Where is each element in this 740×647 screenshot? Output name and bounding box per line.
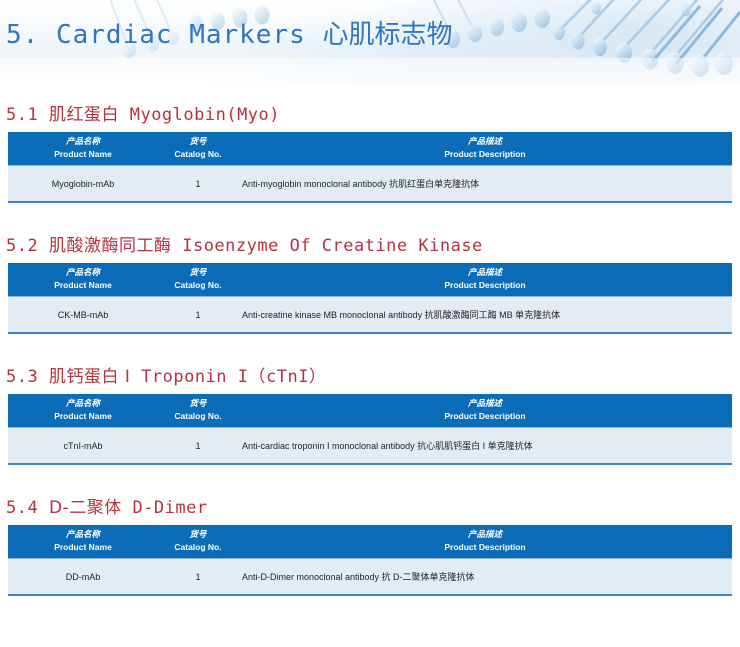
cell-description: Anti-creatine kinase MB monoclonal antib… (238, 297, 732, 334)
section-heading-5-2: 5.2 肌酸激酶同工酶 Isoenzyme Of Creatine Kinase (0, 231, 740, 256)
product-table-5-4: 产品名称 Product Name 货号 Catalog No. 产品描述 Pr… (8, 525, 732, 596)
cell-product-name: CK-MB-mAb (8, 297, 158, 334)
column-header-product-description: 产品描述 Product Description (238, 263, 732, 297)
column-header-product-name: 产品名称 Product Name (8, 132, 158, 166)
section-title-cn: 肌酸激酶同工酶 (49, 236, 172, 256)
section-title-en: D-Dimer (132, 498, 207, 518)
section-title-cn: 肌红蛋白 (49, 105, 119, 125)
section-heading-5-1: 5.1 肌红蛋白 Myoglobin(Myo) (0, 100, 740, 125)
page-title-en: Cardiac Markers (56, 20, 306, 50)
section-title-en: Isoenzyme Of Creatine Kinase (182, 236, 483, 256)
section-number: 5.4 (6, 498, 38, 518)
section-5-4: 5.4 D-二聚体 D-Dimer 产品名称 Product Name 货号 C… (0, 465, 740, 596)
column-header-catalog-no: 货号 Catalog No. (158, 263, 238, 297)
column-header-catalog-no: 货号 Catalog No. (158, 394, 238, 428)
section-title-cn: D-二聚体 (49, 498, 122, 518)
table-header-row: 产品名称 Product Name 货号 Catalog No. 产品描述 Pr… (8, 394, 732, 428)
cell-product-name: Myoglobin-mAb (8, 166, 158, 203)
cell-catalog-no: 1 (158, 428, 238, 465)
column-header-catalog-no: 货号 Catalog No. (158, 132, 238, 166)
cell-catalog-no: 1 (158, 297, 238, 334)
table-row: Myoglobin-mAb 1 Anti-myoglobin monoclona… (8, 166, 732, 203)
column-header-catalog-no: 货号 Catalog No. (158, 525, 238, 559)
column-header-product-name: 产品名称 Product Name (8, 525, 158, 559)
column-header-product-description: 产品描述 Product Description (238, 394, 732, 428)
section-number: 5.1 (6, 105, 38, 125)
table-row: CK-MB-mAb 1 Anti-creatine kinase MB mono… (8, 297, 732, 334)
section-heading-5-4: 5.4 D-二聚体 D-Dimer (0, 493, 740, 518)
column-header-product-description: 产品描述 Product Description (238, 525, 732, 559)
section-title-en: Myoglobin(Myo) (130, 105, 280, 125)
table-header-row: 产品名称 Product Name 货号 Catalog No. 产品描述 Pr… (8, 525, 732, 559)
product-table-5-2: 产品名称 Product Name 货号 Catalog No. 产品描述 Pr… (8, 263, 732, 334)
product-table-5-1: 产品名称 Product Name 货号 Catalog No. 产品描述 Pr… (8, 132, 732, 203)
column-header-product-name: 产品名称 Product Name (8, 394, 158, 428)
cell-product-name: DD-mAb (8, 559, 158, 596)
page-banner: 5. Cardiac Markers 心肌标志物 (0, 0, 740, 86)
product-table-5-3: 产品名称 Product Name 货号 Catalog No. 产品描述 Pr… (8, 394, 732, 465)
section-5-1: 5.1 肌红蛋白 Myoglobin(Myo) 产品名称 Product Nam… (0, 86, 740, 203)
page-title: 5. Cardiac Markers 心肌标志物 (6, 14, 452, 51)
section-5-2: 5.2 肌酸激酶同工酶 Isoenzyme Of Creatine Kinase… (0, 203, 740, 334)
section-title-cn: 肌钙蛋白 I (49, 367, 130, 387)
section-title-en: Troponin I（cTnI） (141, 367, 326, 387)
cell-catalog-no: 1 (158, 166, 238, 203)
cell-description: Anti-myoglobin monoclonal antibody 抗肌红蛋白… (238, 166, 732, 203)
page-title-cn: 心肌标志物 (322, 20, 452, 50)
cell-catalog-no: 1 (158, 559, 238, 596)
table-row: DD-mAb 1 Anti-D-Dimer monoclonal antibod… (8, 559, 732, 596)
table-header-row: 产品名称 Product Name 货号 Catalog No. 产品描述 Pr… (8, 263, 732, 297)
table-row: cTnI-mAb 1 Anti-cardiac troponin I monoc… (8, 428, 732, 465)
cell-description: Anti-D-Dimer monoclonal antibody 抗 D-二聚体… (238, 559, 732, 596)
cell-description: Anti-cardiac troponin I monoclonal antib… (238, 428, 732, 465)
section-5-3: 5.3 肌钙蛋白 I Troponin I（cTnI） 产品名称 Product… (0, 334, 740, 465)
table-header-row: 产品名称 Product Name 货号 Catalog No. 产品描述 Pr… (8, 132, 732, 166)
section-heading-5-3: 5.3 肌钙蛋白 I Troponin I（cTnI） (0, 362, 740, 387)
cell-product-name: cTnI-mAb (8, 428, 158, 465)
page-title-number: 5. (6, 20, 39, 50)
section-number: 5.3 (6, 367, 38, 387)
section-number: 5.2 (6, 236, 38, 256)
column-header-product-description: 产品描述 Product Description (238, 132, 732, 166)
column-header-product-name: 产品名称 Product Name (8, 263, 158, 297)
